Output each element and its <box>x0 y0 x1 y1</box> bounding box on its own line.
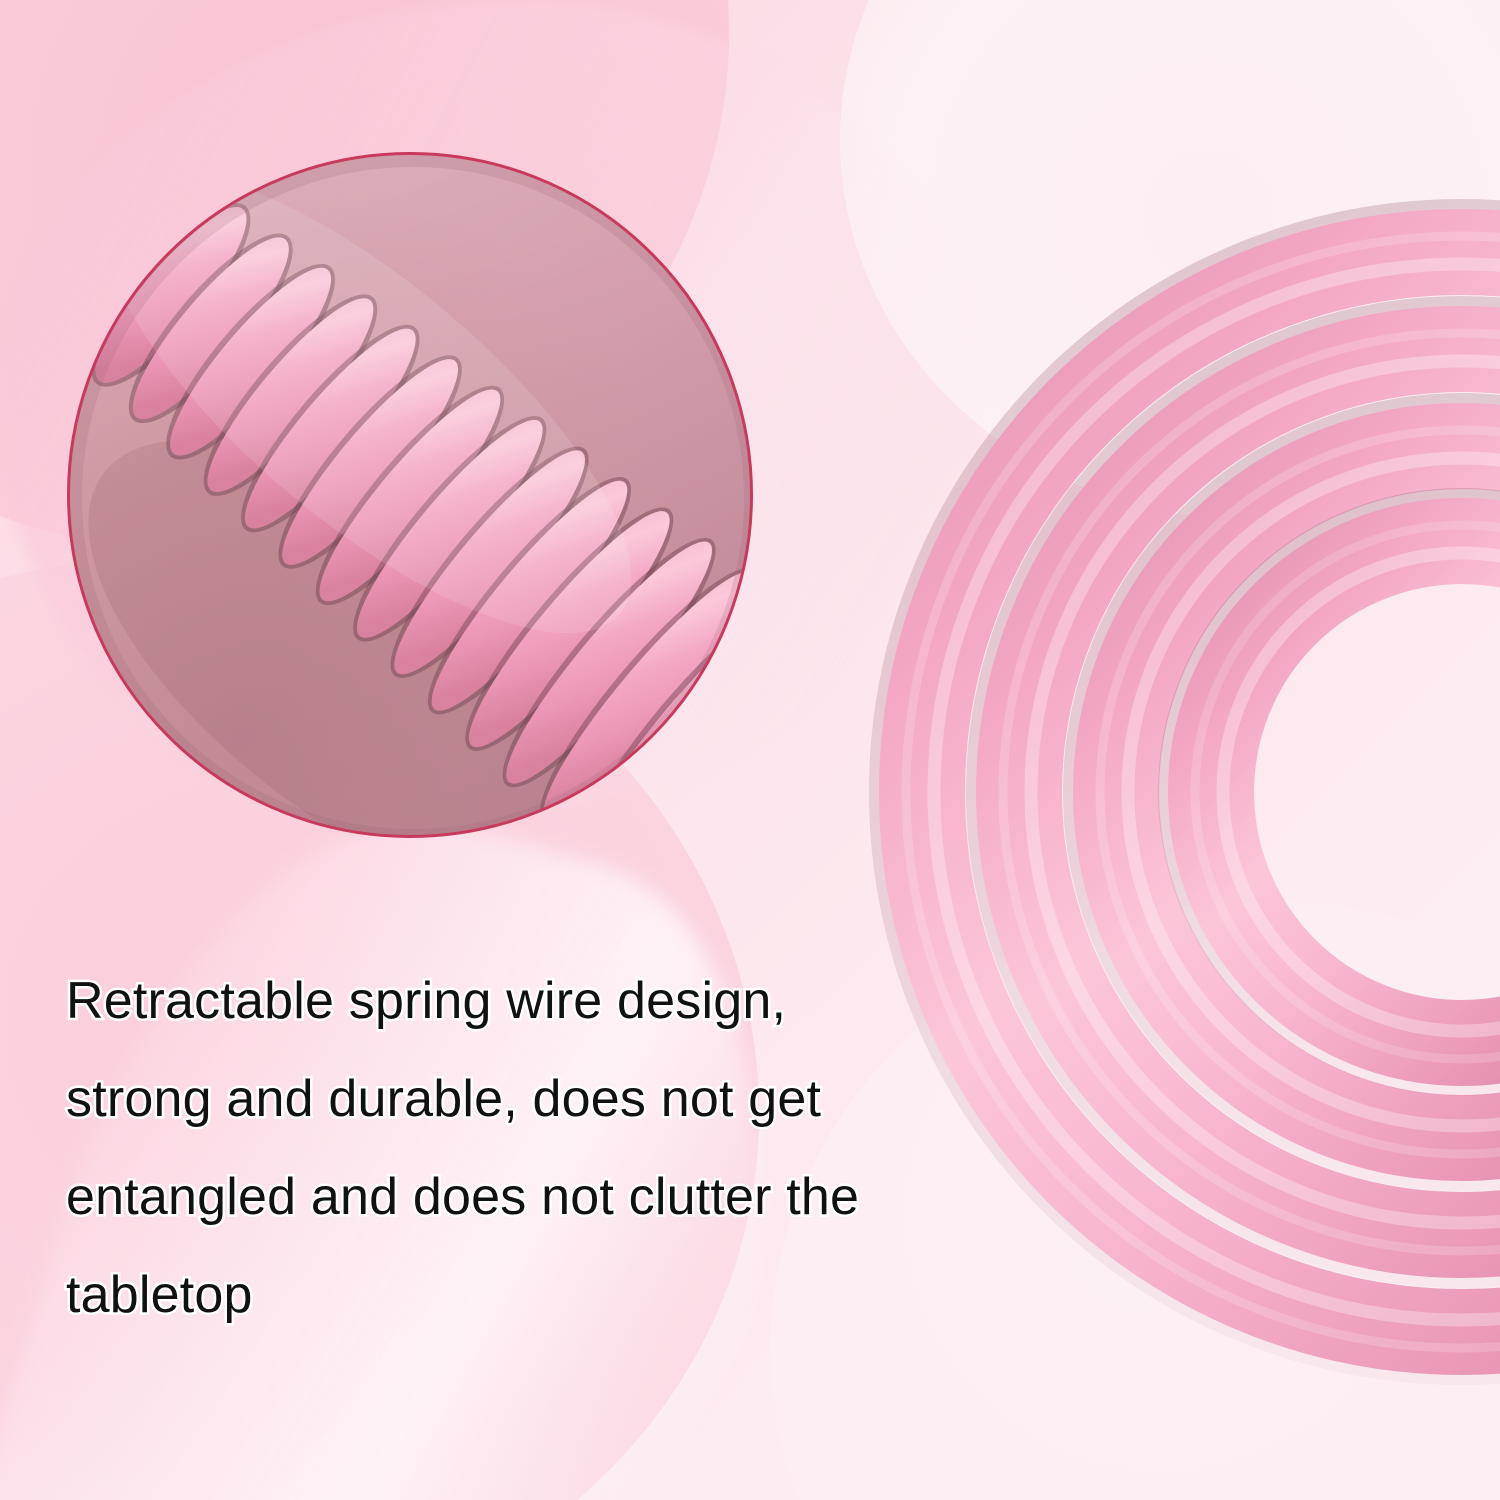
magnifier-circle <box>67 152 753 838</box>
feature-caption: Retractable spring wire design, strong a… <box>66 952 966 1344</box>
product-marketing-image: Retractable spring wire design, strong a… <box>0 0 1500 1500</box>
spring-coil-illustration <box>67 152 753 838</box>
caption-line-3: entangled and does not clutter the <box>66 1148 966 1246</box>
caption-line-2: strong and durable, does not get <box>66 1050 966 1148</box>
caption-line-1: Retractable spring wire design, <box>66 952 966 1050</box>
caption-line-4: tabletop <box>66 1246 966 1344</box>
